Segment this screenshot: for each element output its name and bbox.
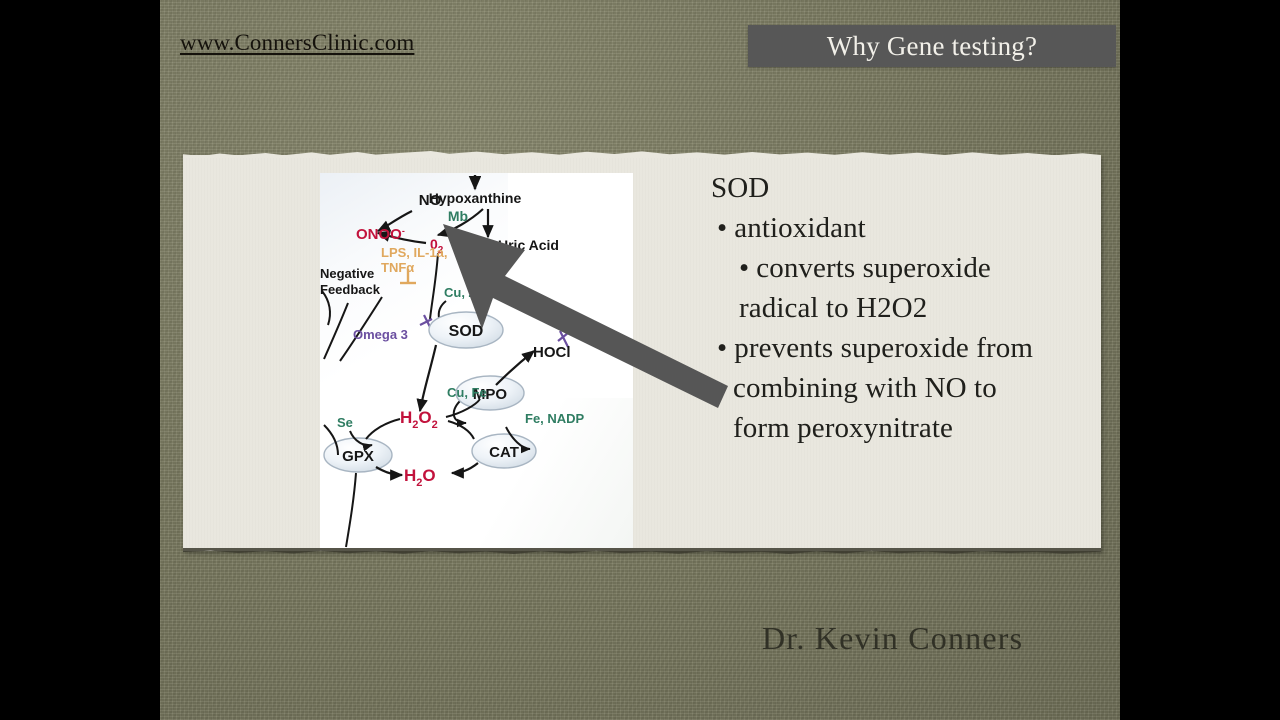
diagram-label-fe-nadp: Fe, NADP: [525, 411, 585, 426]
diagram-label-hypoxanthine: Hypoxanthine: [429, 190, 522, 206]
letterbox-left: [0, 0, 160, 720]
text-line-form-peroxynitrate: form peroxynitrate: [711, 408, 1086, 448]
diagram-label-no: NO: [419, 192, 442, 209]
line-text: prevents superoxide from: [734, 332, 1033, 364]
diagram-label-tnfa: TNFα: [381, 260, 414, 275]
body-text-block: SOD •antioxidant •converts superoxide ra…: [711, 168, 1086, 448]
text-line-prevents-superoxide: •prevents superoxide from: [711, 328, 1086, 368]
bullet-glyph: •: [717, 212, 727, 244]
diagram-label-se: Se: [337, 415, 353, 430]
line-text: antioxidant: [734, 212, 866, 244]
diagram-label-cu-zn-mn: Cu, Zn, Mn: [444, 285, 510, 300]
diagram-label-onoo: ONOO-: [356, 226, 405, 243]
line-text: radical to H2O2: [739, 292, 927, 324]
paper-panel: SOD MPO CAT: [183, 155, 1101, 551]
presenter-signature: Dr. Kevin Conners: [762, 620, 1023, 657]
diagram-label-negative-feedback: Negative: [320, 266, 374, 281]
text-line-radical-to-h2o2: radical to H2O2: [711, 288, 1086, 328]
svg-text:CAT: CAT: [489, 444, 519, 461]
diagram-label-hocl: HOCl: [533, 344, 571, 361]
diagram-label-cu: Cu: [569, 321, 586, 336]
bullet-glyph: •: [717, 332, 727, 364]
letterbox-right: [1120, 0, 1280, 720]
diagram-label-negative-feedback-2: Feedback: [320, 282, 381, 297]
text-line-sod: SOD: [711, 168, 1086, 208]
text-line-combining-with-no: combining with NO to: [711, 368, 1086, 408]
line-text: SOD: [711, 172, 769, 204]
sod-pathway-diagram: SOD MPO CAT: [320, 173, 633, 548]
slide-stage: www.ConnersClinic.com Why Gene testing?: [0, 0, 1280, 720]
svg-text:SOD: SOD: [449, 323, 484, 340]
text-line-antioxidant: •antioxidant: [711, 208, 1086, 248]
diagram-svg: SOD MPO CAT: [320, 173, 633, 548]
page-title: Why Gene testing?: [827, 33, 1037, 60]
line-text: form peroxynitrate: [733, 412, 953, 444]
diagram-label-mb: Mb: [448, 208, 468, 224]
diagram-label-lps: LPS, IL-1a,: [381, 245, 447, 260]
diagram-label-uric-acid: Uric Acid: [498, 237, 559, 253]
site-url-link[interactable]: www.ConnersClinic.com: [180, 30, 414, 56]
diagram-label-omega3: Omega 3: [353, 327, 408, 342]
line-text: converts superoxide: [756, 252, 991, 284]
line-text: combining with NO to: [733, 372, 997, 404]
diagram-label-h2o: H2O: [404, 466, 436, 489]
text-line-converts-superoxide: •converts superoxide: [711, 248, 1086, 288]
svg-text:GPX: GPX: [342, 448, 374, 465]
title-banner: Why Gene testing?: [748, 25, 1116, 67]
diagram-label-h2o2: H2O2: [400, 408, 438, 431]
diagram-label-cu-fe: Cu, Fe: [447, 385, 487, 400]
bullet-glyph: •: [739, 252, 749, 284]
